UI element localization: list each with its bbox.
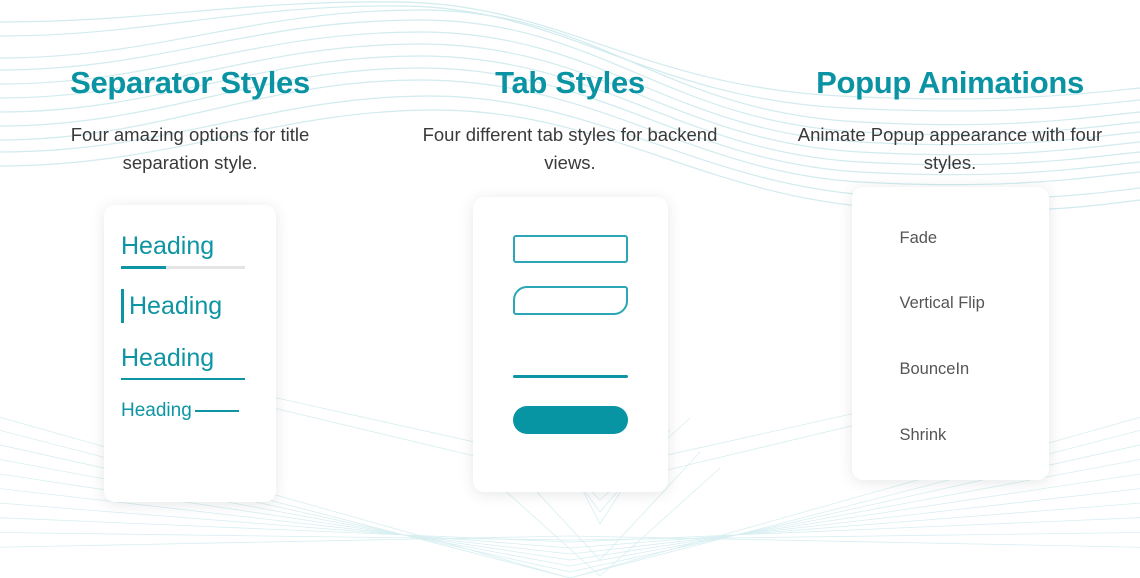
tab-style-filled-pill[interactable]: [513, 406, 628, 434]
column-description: Four amazing options for title separatio…: [35, 121, 345, 177]
tab-style-underline-only[interactable]: [513, 375, 628, 378]
popup-animation-option-bouncein[interactable]: BounceIn: [900, 360, 970, 380]
separator-styles-card: Heading Heading Heading Heading: [104, 205, 276, 502]
separator-style-full-underline[interactable]: Heading: [104, 343, 245, 380]
separator-heading-label: Heading: [121, 400, 192, 423]
popup-animation-option-fade[interactable]: Fade: [900, 229, 938, 249]
separator-partial-underline-rule: [121, 266, 245, 269]
separator-style-inline-trailing-line[interactable]: Heading: [104, 400, 239, 423]
feature-columns: Separator Styles Four amazing options fo…: [0, 0, 1140, 578]
popup-animation-option-shrink[interactable]: Shrink: [900, 426, 947, 446]
column-separator-styles: Separator Styles Four amazing options fo…: [0, 0, 380, 578]
column-tab-styles: Tab Styles Four different tab styles for…: [380, 0, 760, 578]
separator-vertical-bar: [121, 289, 124, 323]
column-popup-animations: Popup Animations Animate Popup appearanc…: [760, 0, 1140, 578]
separator-trailing-line: [195, 410, 239, 412]
separator-style-left-vertical-bar[interactable]: Heading: [104, 289, 222, 323]
separator-style-partial-underline[interactable]: Heading: [104, 231, 245, 269]
column-description: Four different tab styles for backend vi…: [415, 121, 725, 177]
tab-styles-card: [473, 197, 668, 492]
popup-animation-option-vertical-flip[interactable]: Vertical Flip: [900, 294, 985, 314]
separator-heading-label: Heading: [121, 231, 245, 261]
column-description: Animate Popup appearance with four style…: [795, 121, 1105, 177]
tab-style-outlined-rectangle[interactable]: [513, 235, 628, 263]
column-title: Popup Animations: [816, 66, 1084, 100]
column-title: Separator Styles: [70, 66, 310, 100]
separator-heading-label: Heading: [129, 291, 222, 321]
popup-animations-card: Fade Vertical Flip BounceIn Shrink: [852, 187, 1049, 480]
tab-style-outlined-diagonal-rounded[interactable]: [513, 286, 628, 315]
separator-full-underline-rule: [121, 378, 245, 380]
separator-heading-label: Heading: [121, 343, 245, 373]
column-title: Tab Styles: [495, 66, 645, 100]
